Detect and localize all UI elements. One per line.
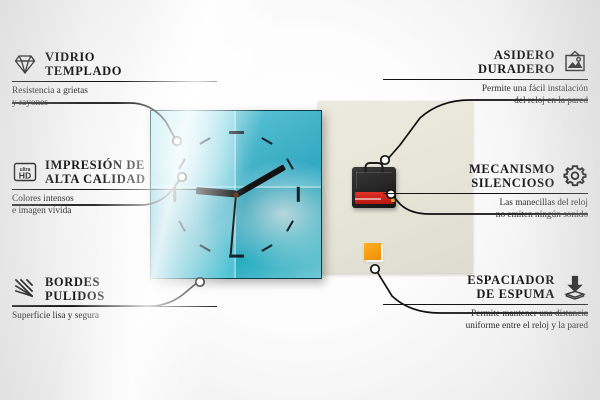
feature-title-line1: IMPRESIÓN DE <box>45 158 145 172</box>
feature-sub-line1: Permite una fácil instalación <box>482 84 588 94</box>
foam-spacer-piece <box>364 243 381 260</box>
diamond-icon <box>12 51 38 77</box>
gear-icon <box>562 163 588 189</box>
battery-label <box>355 198 381 200</box>
clock-tick <box>229 255 244 258</box>
infographic-canvas: VIDRIO TEMPLADO Resistencia a grietas y … <box>0 0 600 400</box>
feature-title-line2: ALTA CALIDAD <box>45 172 146 186</box>
feature-sub-line2: e imagen vívida <box>12 206 71 216</box>
divider <box>12 81 217 82</box>
feature-sub-line1: Permite mantener una distancia <box>471 309 588 319</box>
foam-spacer-icon <box>562 274 588 300</box>
feature-asidero-duradero: ASIDERO DURADERO Permite una fácil insta… <box>383 48 588 107</box>
divider <box>12 306 217 307</box>
feature-title-line2: TEMPLADO <box>45 64 122 78</box>
ultra-hd-icon: ultra HD <box>12 159 38 185</box>
divider <box>383 193 588 194</box>
feature-sub-line1: Resistencia a grietas <box>12 86 88 96</box>
feature-title-line2: DURADERO <box>478 62 555 76</box>
divider <box>12 189 217 190</box>
feature-mecanismo-silencioso: MECANISMO SILENCIOSO Las manecillas del … <box>383 162 588 221</box>
clock-tick <box>297 187 300 202</box>
feature-sub-line2: del reloj en la pared <box>514 96 588 106</box>
polished-edges-icon <box>12 276 38 302</box>
feature-sub-line2: no emiten ningún sonido <box>496 210 588 220</box>
feature-title-line1: BORDES <box>45 275 100 289</box>
hd-label: HD <box>19 170 31 180</box>
feature-title-line2: PULIDOS <box>45 289 105 303</box>
feature-title-line2: DE ESPUMA <box>476 287 555 301</box>
feature-sub-line1: Las manecillas del reloj <box>499 198 588 208</box>
feature-vidrio-templado: VIDRIO TEMPLADO Resistencia a grietas y … <box>12 50 217 109</box>
feature-impresion-alta-calidad: ultra HD IMPRESIÓN DE ALTA CALIDAD Color… <box>12 158 217 217</box>
feature-title-line1: ESPACIADOR <box>467 273 555 287</box>
feature-sub-line2: y rayones <box>12 98 48 108</box>
feature-sub-line2: uniforme entre el reloj y la pared <box>466 321 588 331</box>
feature-sub-line1: Superficie lisa y segura <box>12 311 99 321</box>
divider <box>383 79 588 80</box>
feature-title-line1: ASIDERO <box>494 48 555 62</box>
feature-espaciador-de-espuma: ESPACIADOR DE ESPUMA Permite mantener un… <box>383 273 588 332</box>
picture-frame-icon <box>562 49 588 75</box>
feature-sub-line1: Colores intensos <box>12 194 74 204</box>
feature-bordes-pulidos: BORDES PULIDOS Superficie lisa y segura <box>12 275 217 323</box>
feature-title-line2: SILENCIOSO <box>471 176 555 190</box>
clock-center-pin <box>234 192 239 197</box>
feature-title-line1: MECANISMO <box>469 162 555 176</box>
clock-tick <box>229 131 244 134</box>
feature-title-line1: VIDRIO <box>45 50 95 64</box>
divider <box>383 304 588 305</box>
